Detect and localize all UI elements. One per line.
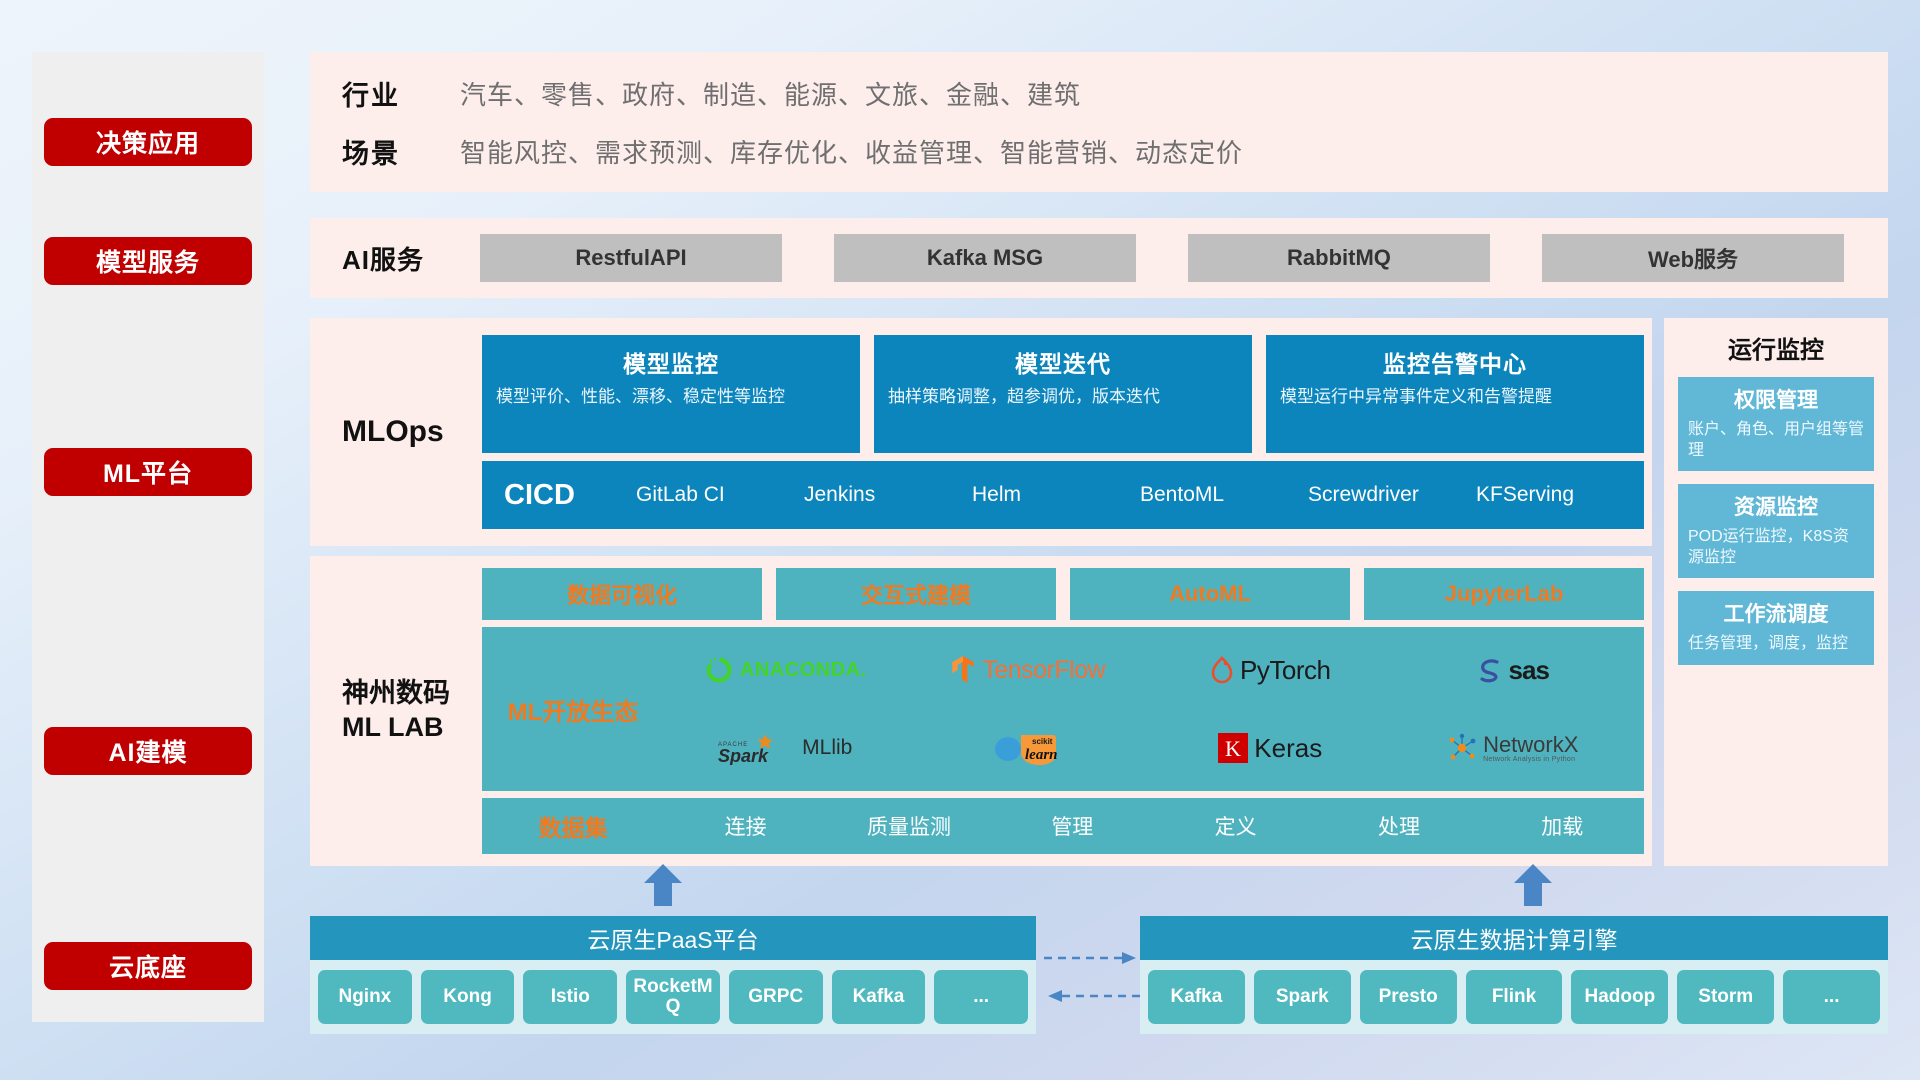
mllib-wordmark: MLlib: [802, 736, 852, 760]
scenario-row: 场景 智能风控、需求预测、库存优化、收益管理、智能营销、动态定价: [342, 122, 1888, 180]
mlops-band: MLOps 模型监控 模型评价、性能、漂移、稳定性等监控 模型迭代 抽样策略调整…: [310, 318, 1652, 546]
stage-pill-decision-app[interactable]: 决策应用: [44, 118, 252, 166]
service-button-rabbitmq[interactable]: RabbitMQ: [1188, 234, 1490, 282]
chip-grpc[interactable]: GRPC: [729, 970, 823, 1024]
dataset-item-loading[interactable]: 加载: [1481, 811, 1644, 841]
mlops-label: MLOps: [342, 415, 482, 449]
scikit-learn-logo: scikit learn: [991, 730, 1065, 766]
ml-lab-band: 神州数码 ML LAB 数据可视化 交互式建模 AutoML JupyterLa…: [310, 556, 1652, 866]
up-arrow-icon-paas: [640, 862, 686, 908]
keras-mark-icon: K: [1218, 733, 1248, 763]
card-title: 模型迭代: [888, 345, 1238, 379]
dataset-row: 数据集 连接 质量监测 管理 定义 处理 加载: [482, 798, 1644, 854]
mlops-card-alert-center[interactable]: 监控告警中心 模型运行中异常事件定义和告警提醒: [1266, 335, 1644, 453]
stage-pill-model-service[interactable]: 模型服务: [44, 237, 252, 285]
svg-text:scikit: scikit: [1032, 737, 1053, 746]
compute-engine-header: 云原生数据计算引擎: [1140, 916, 1888, 960]
keras-logo: K Keras: [1218, 733, 1322, 764]
ml-lab-tab-group: 数据可视化 交互式建模 AutoML JupyterLab: [482, 568, 1644, 620]
chip-kafka[interactable]: Kafka: [832, 970, 926, 1024]
ml-lab-content: 数据可视化 交互式建模 AutoML JupyterLab ML开放生态 ANA…: [482, 556, 1652, 866]
stage-pill-cloud-base[interactable]: 云底座: [44, 942, 252, 990]
spark-mllib-logo: APACHE Spark MLlib: [718, 731, 852, 765]
paas-header: 云原生PaaS平台: [310, 916, 1036, 960]
compute-engine-chip-row: Kafka Spark Presto Flink Hadoop Storm ..…: [1140, 960, 1888, 1034]
industry-label: 行业: [342, 74, 460, 113]
tensorflow-mark-icon: [950, 655, 976, 685]
chip-more-paas[interactable]: ...: [934, 970, 1028, 1024]
card-title: 权限管理: [1688, 384, 1864, 414]
up-arrow-icon-compute-engine: [1510, 862, 1556, 908]
card-desc: 账户、角色、用户组等管理: [1688, 419, 1864, 461]
chip-more-compute[interactable]: ...: [1783, 970, 1880, 1024]
lab-tab-interactive-modeling[interactable]: 交互式建模: [776, 568, 1056, 620]
scikit-learn-mark-icon: scikit learn: [991, 730, 1065, 766]
pytorch-flame-icon: [1210, 656, 1234, 684]
service-button-kafka-msg[interactable]: Kafka MSG: [834, 234, 1136, 282]
dataset-item-processing[interactable]: 处理: [1317, 811, 1480, 841]
chip-presto[interactable]: Presto: [1360, 970, 1457, 1024]
chip-hadoop[interactable]: Hadoop: [1571, 970, 1668, 1024]
scenario-label: 场景: [342, 132, 460, 171]
card-desc: 模型运行中异常事件定义和告警提醒: [1280, 386, 1630, 408]
anaconda-logo: ANACONDA.: [704, 655, 867, 685]
chip-nginx[interactable]: Nginx: [318, 970, 412, 1024]
mlops-card-model-monitoring[interactable]: 模型监控 模型评价、性能、漂移、稳定性等监控: [482, 335, 860, 453]
tensorflow-logo: TensorFlow: [950, 655, 1105, 685]
cicd-item-gitlab-ci[interactable]: GitLab CI: [636, 484, 804, 506]
cloud-native-paas-group: 云原生PaaS平台 Nginx Kong Istio RocketMQ GRPC…: [310, 916, 1036, 1034]
networkx-tagline: Network Analysis in Python: [1483, 756, 1578, 763]
card-title: 工作流调度: [1688, 598, 1864, 628]
pytorch-logo: PyTorch: [1210, 655, 1330, 686]
keras-wordmark: Keras: [1254, 733, 1322, 764]
lab-tab-data-visualization[interactable]: 数据可视化: [482, 568, 762, 620]
networkx-graph-icon: [1447, 733, 1477, 763]
sas-wordmark: sas: [1509, 655, 1549, 686]
mlops-card-group: 模型监控 模型评价、性能、漂移、稳定性等监控 模型迭代 抽样策略调整，超参调优，…: [482, 335, 1644, 453]
card-title: 模型监控: [496, 345, 846, 379]
chip-spark[interactable]: Spark: [1254, 970, 1351, 1024]
scenario-value: 智能风控、需求预测、库存优化、收益管理、智能营销、动态定价: [460, 133, 1243, 170]
cicd-item-helm[interactable]: Helm: [972, 484, 1140, 506]
service-button-restfulapi[interactable]: RestfulAPI: [480, 234, 782, 282]
ml-lab-label-line2: ML LAB: [342, 711, 482, 745]
industry-row: 行业 汽车、零售、政府、制造、能源、文旅、金融、建筑: [342, 64, 1888, 122]
apache-spark-mark-icon: APACHE Spark: [718, 731, 796, 765]
card-desc: 抽样策略调整，超参调优，版本迭代: [888, 386, 1238, 408]
cicd-item-kfserving[interactable]: KFServing: [1476, 484, 1644, 506]
dataset-label: 数据集: [482, 809, 664, 843]
svg-text:Spark: Spark: [718, 746, 769, 765]
chip-storm[interactable]: Storm: [1677, 970, 1774, 1024]
monitor-card-permission-management[interactable]: 权限管理 账户、角色、用户组等管理: [1678, 377, 1874, 471]
stage-pill-ml-platform[interactable]: ML平台: [44, 448, 252, 496]
paas-chip-row: Nginx Kong Istio RocketMQ GRPC Kafka ...: [310, 960, 1036, 1034]
cicd-item-bentoml[interactable]: BentoML: [1140, 484, 1308, 506]
svg-text:learn: learn: [1025, 747, 1058, 763]
stage-pill-ai-modeling[interactable]: AI建模: [44, 727, 252, 775]
ml-lab-label-line1: 神州数码: [342, 677, 482, 711]
monitor-card-resource-monitoring[interactable]: 资源监控 POD运行监控，K8S资源监控: [1678, 484, 1874, 578]
ai-service-band: AI服务 RestfulAPI Kafka MSG RabbitMQ Web服务: [310, 218, 1888, 298]
lab-tab-automl[interactable]: AutoML: [1070, 568, 1350, 620]
chip-kafka-compute[interactable]: Kafka: [1148, 970, 1245, 1024]
lab-tab-jupyterlab[interactable]: JupyterLab: [1364, 568, 1644, 620]
ml-open-ecosystem-label: ML开放生态: [482, 692, 664, 727]
runtime-monitoring-title: 运行监控: [1678, 330, 1874, 365]
dataset-item-connect[interactable]: 连接: [664, 811, 827, 841]
stage-rail: 决策应用 模型服务 ML平台 AI建模: [32, 52, 264, 1022]
cicd-title: CICD: [504, 479, 636, 512]
cloud-native-compute-engine-group: 云原生数据计算引擎 Kafka Spark Presto Flink Hadoo…: [1140, 916, 1888, 1034]
pytorch-wordmark: PyTorch: [1240, 655, 1330, 686]
anaconda-wordmark: ANACONDA.: [740, 659, 867, 682]
chip-kong[interactable]: Kong: [421, 970, 515, 1024]
bidirectional-dashed-connector-icon: [1044, 944, 1140, 1010]
mlops-card-model-iteration[interactable]: 模型迭代 抽样策略调整，超参调优，版本迭代: [874, 335, 1252, 453]
industry-value: 汽车、零售、政府、制造、能源、文旅、金融、建筑: [460, 75, 1081, 112]
ml-lab-label: 神州数码 ML LAB: [342, 677, 482, 745]
card-title: 资源监控: [1688, 491, 1864, 521]
runtime-monitoring-column: 运行监控 权限管理 账户、角色、用户组等管理 资源监控 POD运行监控，K8S资…: [1664, 318, 1888, 866]
card-desc: 模型评价、性能、漂移、稳定性等监控: [496, 386, 846, 408]
ecosystem-logo-grid: ANACONDA. TensorFlow PyTorch: [664, 627, 1644, 791]
sas-logo: sas: [1477, 655, 1549, 686]
card-title: 监控告警中心: [1280, 345, 1630, 379]
chip-istio[interactable]: Istio: [523, 970, 617, 1024]
chip-flink[interactable]: Flink: [1466, 970, 1563, 1024]
cicd-item-jenkins[interactable]: Jenkins: [804, 484, 972, 506]
sas-mark-icon: [1477, 656, 1503, 684]
networkx-logo: NetworkX Network Analysis in Python: [1447, 733, 1578, 763]
application-band: 行业 汽车、零售、政府、制造、能源、文旅、金融、建筑 场景 智能风控、需求预测、…: [310, 52, 1888, 192]
anaconda-mark-icon: [704, 655, 734, 685]
ai-service-button-group: RestfulAPI Kafka MSG RabbitMQ Web服务: [480, 234, 1888, 282]
svg-text:K: K: [1225, 736, 1241, 761]
ml-open-ecosystem: ML开放生态 ANACONDA.: [482, 627, 1644, 791]
dataset-item-definition[interactable]: 定义: [1154, 811, 1317, 841]
service-button-web[interactable]: Web服务: [1542, 234, 1844, 282]
chip-rocketmq[interactable]: RocketMQ: [626, 970, 720, 1024]
cicd-row: CICD GitLab CI Jenkins Helm BentoML Scre…: [482, 461, 1644, 529]
card-desc: POD运行监控，K8S资源监控: [1688, 526, 1864, 568]
monitor-card-workflow-scheduling[interactable]: 工作流调度 任务管理，调度，监控: [1678, 591, 1874, 664]
mlops-content: 模型监控 模型评价、性能、漂移、稳定性等监控 模型迭代 抽样策略调整，超参调优，…: [482, 318, 1652, 546]
dataset-item-quality-monitoring[interactable]: 质量监测: [827, 811, 990, 841]
ai-service-label: AI服务: [342, 240, 480, 277]
dataset-item-management[interactable]: 管理: [991, 811, 1154, 841]
cicd-item-screwdriver[interactable]: Screwdriver: [1308, 484, 1476, 506]
card-desc: 任务管理，调度，监控: [1688, 633, 1864, 654]
tensorflow-wordmark: TensorFlow: [982, 656, 1105, 685]
networkx-wordmark: NetworkX: [1483, 734, 1578, 756]
